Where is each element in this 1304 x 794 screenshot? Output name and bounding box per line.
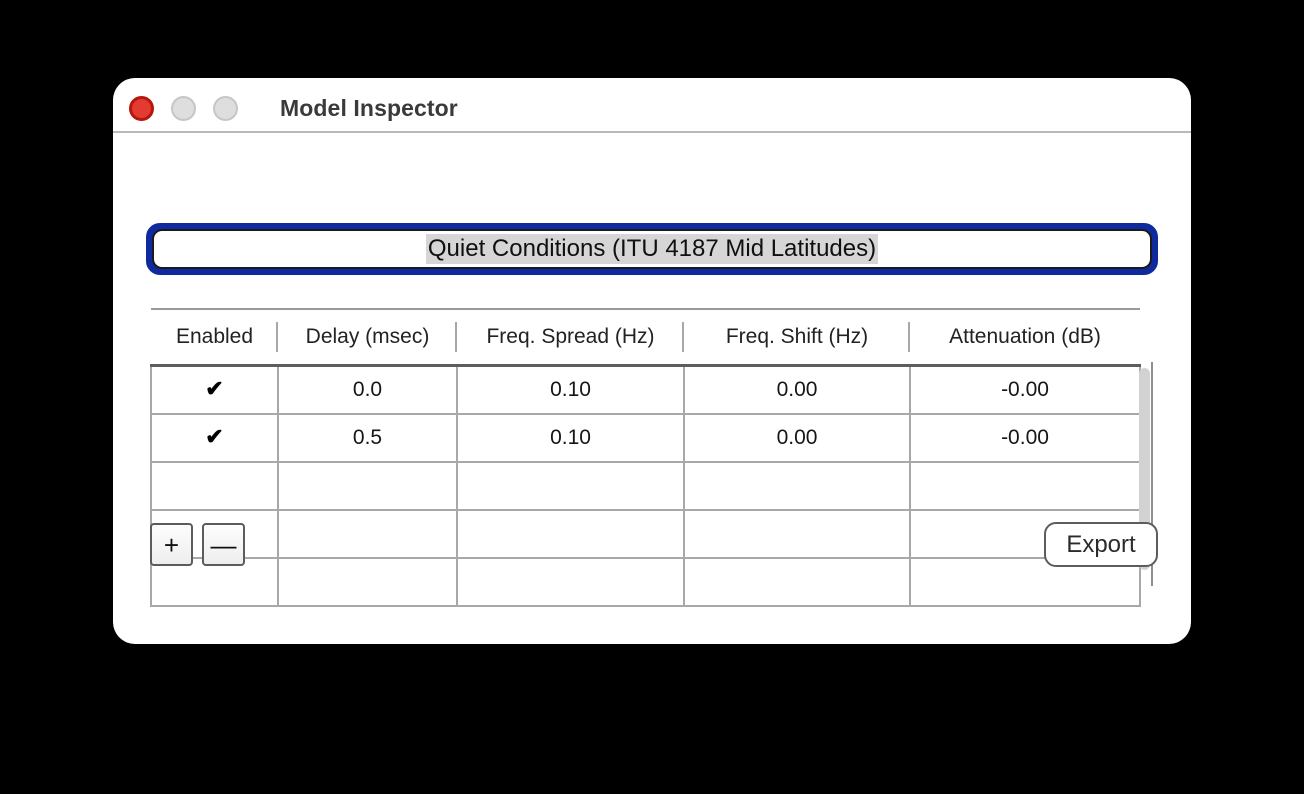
table-header-row: Enabled Delay (msec) Freq. Spread (Hz) F… <box>151 309 1140 366</box>
window-title: Model Inspector <box>280 95 458 122</box>
cell-freq-spread[interactable] <box>457 462 684 510</box>
cell-attenuation[interactable]: -0.00 <box>910 414 1140 462</box>
cell-attenuation[interactable] <box>910 462 1140 510</box>
window-content: Quiet Conditions (ITU 4187 Mid Latitudes… <box>113 133 1191 644</box>
model-name-field-focus-ring: Quiet Conditions (ITU 4187 Mid Latitudes… <box>146 223 1158 275</box>
remove-row-button[interactable]: — <box>202 523 245 566</box>
table-row[interactable]: ✔ 0.5 0.10 0.00 -0.00 <box>151 414 1140 462</box>
paths-grid: Enabled Delay (msec) Freq. Spread (Hz) F… <box>150 308 1141 607</box>
paths-table: Enabled Delay (msec) Freq. Spread (Hz) F… <box>150 308 1153 586</box>
cell-delay[interactable] <box>278 462 457 510</box>
cell-freq-shift[interactable] <box>684 510 910 558</box>
cell-freq-shift[interactable] <box>684 558 910 606</box>
cell-attenuation[interactable]: -0.00 <box>910 366 1140 415</box>
table-row[interactable] <box>151 558 1140 606</box>
minimize-window-button[interactable] <box>171 96 196 121</box>
cell-enabled[interactable]: ✔ <box>151 366 278 415</box>
column-header-freq-shift-label: Freq. Shift (Hz) <box>726 325 868 348</box>
table-row[interactable] <box>151 462 1140 510</box>
column-header-freq-spread-label: Freq. Spread (Hz) <box>486 325 654 348</box>
cell-freq-spread[interactable]: 0.10 <box>457 414 684 462</box>
cell-freq-shift[interactable]: 0.00 <box>684 414 910 462</box>
close-window-button[interactable] <box>129 96 154 121</box>
column-header-freq-spread[interactable]: Freq. Spread (Hz) <box>457 309 684 366</box>
cell-delay[interactable] <box>278 558 457 606</box>
column-header-attenuation-label: Attenuation (dB) <box>949 325 1101 348</box>
cell-delay[interactable]: 0.5 <box>278 414 457 462</box>
cell-delay[interactable] <box>278 510 457 558</box>
table-row[interactable]: ✔ 0.0 0.10 0.00 -0.00 <box>151 366 1140 415</box>
model-name-input-value: Quiet Conditions (ITU 4187 Mid Latitudes… <box>426 234 878 264</box>
model-name-input[interactable]: Quiet Conditions (ITU 4187 Mid Latitudes… <box>152 229 1152 269</box>
cell-freq-spread[interactable] <box>457 510 684 558</box>
cell-enabled[interactable] <box>151 462 278 510</box>
add-row-button[interactable]: + <box>150 523 193 566</box>
column-header-enabled[interactable]: Enabled <box>151 309 278 366</box>
export-button[interactable]: Export <box>1044 522 1158 567</box>
cell-freq-shift[interactable]: 0.00 <box>684 366 910 415</box>
cell-delay[interactable]: 0.0 <box>278 366 457 415</box>
cell-freq-spread[interactable]: 0.10 <box>457 366 684 415</box>
model-inspector-window: Model Inspector Quiet Conditions (ITU 41… <box>113 78 1191 644</box>
window-controls <box>129 96 238 121</box>
maximize-window-button[interactable] <box>213 96 238 121</box>
window-titlebar: Model Inspector <box>113 78 1191 133</box>
checkmark-icon: ✔ <box>205 376 223 401</box>
column-header-delay[interactable]: Delay (msec) <box>278 309 457 366</box>
column-header-enabled-label: Enabled <box>176 325 253 348</box>
table-row[interactable] <box>151 510 1140 558</box>
column-header-freq-shift[interactable]: Freq. Shift (Hz) <box>684 309 910 366</box>
cell-freq-spread[interactable] <box>457 558 684 606</box>
column-header-delay-label: Delay (msec) <box>306 325 430 348</box>
column-header-attenuation[interactable]: Attenuation (dB) <box>910 309 1140 366</box>
cell-freq-shift[interactable] <box>684 462 910 510</box>
checkmark-icon: ✔ <box>205 424 223 449</box>
cell-enabled[interactable]: ✔ <box>151 414 278 462</box>
